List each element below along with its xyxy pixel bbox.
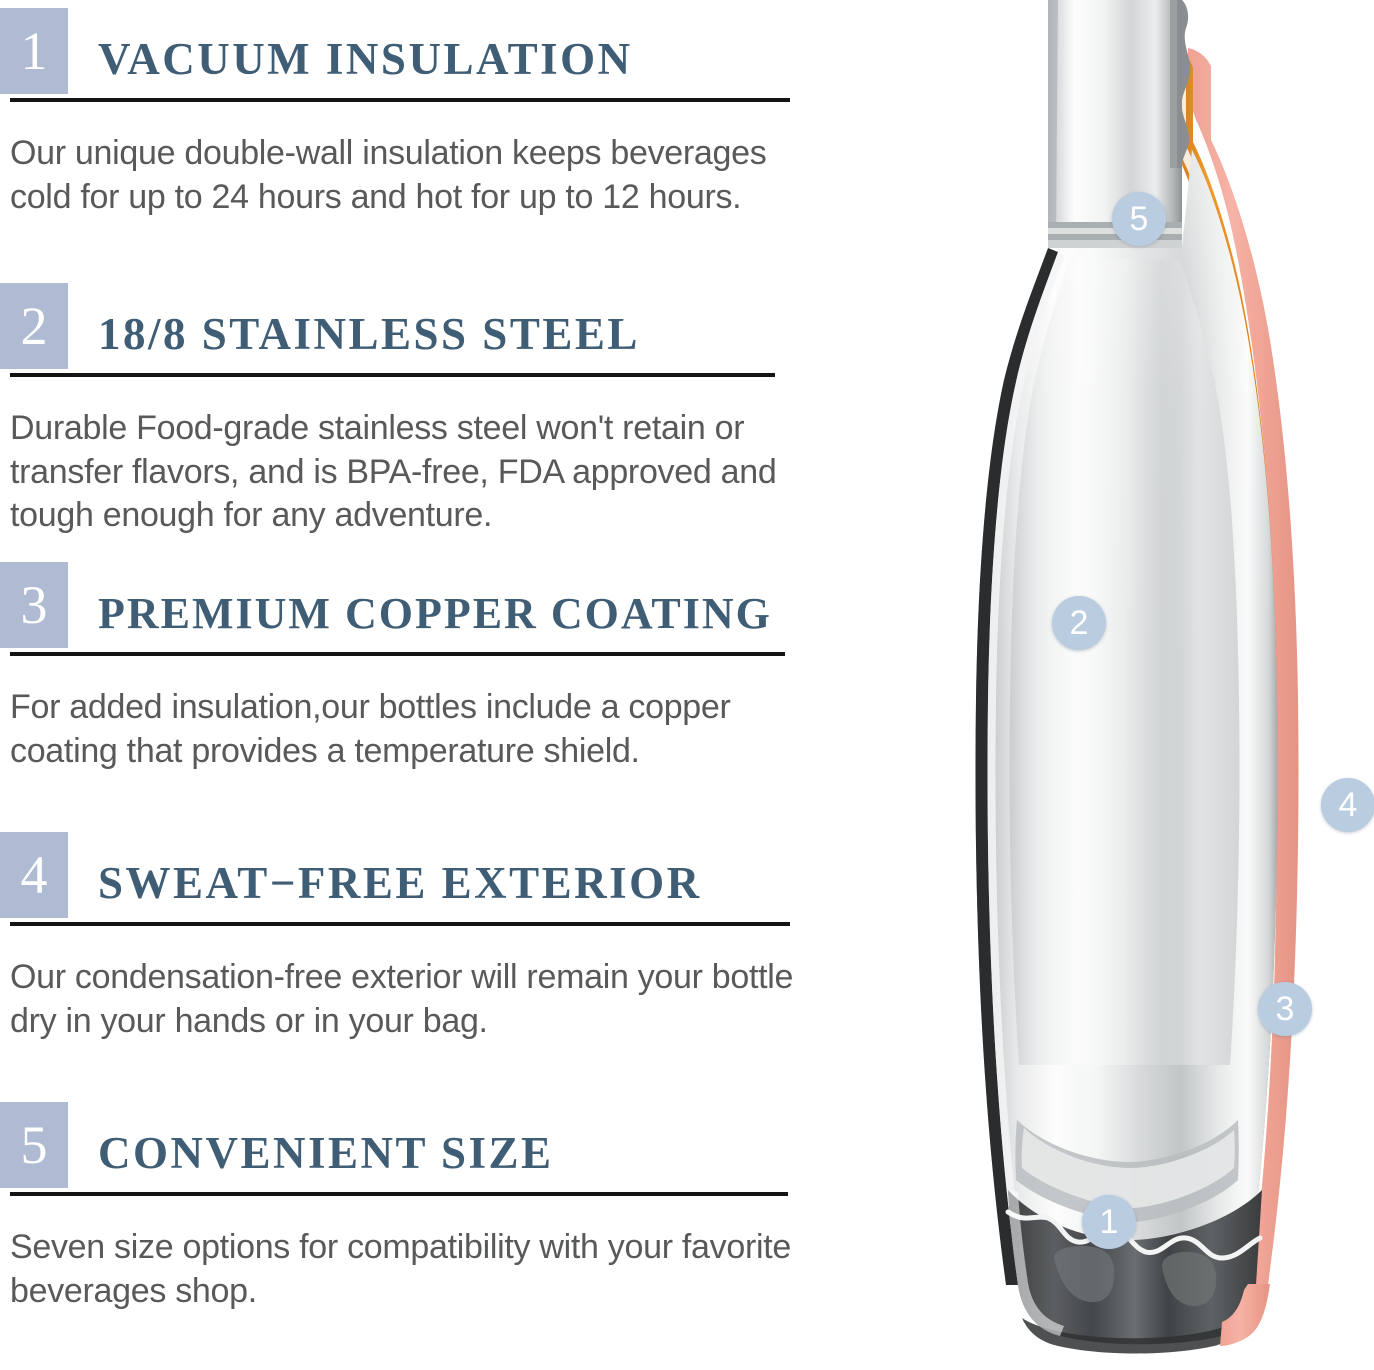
feature-3-title: PREMIUM COPPER COATING [68, 592, 772, 648]
feature-5-header: 5 CONVENIENT SIZE [0, 1102, 880, 1188]
feature-item-4: 4 SWEAT−FREE EXTERIOR Our condensation-f… [0, 832, 880, 1043]
callout-badge-1[interactable]: 1 [1082, 1195, 1136, 1249]
feature-3-header: 3 PREMIUM COPPER COATING [0, 562, 880, 648]
feature-4-divider [10, 922, 790, 926]
feature-5-body: Seven size options for compatibility wit… [0, 1226, 830, 1313]
feature-item-1: 1 VACUUM INSULATION Our unique double-wa… [0, 8, 880, 219]
feature-1-number: 1 [0, 8, 68, 94]
feature-1-divider [10, 98, 790, 102]
callout-badge-4[interactable]: 4 [1321, 778, 1374, 832]
feature-4-header: 4 SWEAT−FREE EXTERIOR [0, 832, 880, 918]
feature-2-body: Durable Food-grade stainless steel won't… [0, 407, 830, 538]
feature-2-divider [10, 373, 775, 377]
feature-4-title: SWEAT−FREE EXTERIOR [68, 861, 702, 918]
feature-item-5: 5 CONVENIENT SIZE Seven size options for… [0, 1102, 880, 1313]
callout-badge-2[interactable]: 2 [1052, 596, 1106, 650]
feature-5-title: CONVENIENT SIZE [68, 1131, 554, 1188]
feature-item-3: 3 PREMIUM COPPER COATING For added insul… [0, 562, 880, 773]
inner-liner-wall [1009, 258, 1239, 1065]
feature-4-number: 4 [0, 832, 68, 918]
feature-2-title: 18/8 STAINLESS STEEL [68, 312, 640, 369]
feature-1-header: 1 VACUUM INSULATION [0, 8, 880, 94]
feature-list: 1 VACUUM INSULATION Our unique double-wa… [0, 0, 880, 1370]
feature-2-header: 2 18/8 STAINLESS STEEL [0, 283, 880, 369]
callout-badge-5[interactable]: 5 [1112, 192, 1166, 246]
bottle-neck [1048, 0, 1182, 238]
feature-3-body: For added insulation,our bottles include… [0, 686, 830, 773]
feature-1-title: VACUUM INSULATION [68, 37, 633, 94]
feature-item-2: 2 18/8 STAINLESS STEEL Durable Food-grad… [0, 283, 880, 538]
feature-4-body: Our condensation-free exterior will rema… [0, 956, 830, 1043]
infographic-page: 1 VACUUM INSULATION Our unique double-wa… [0, 0, 1374, 1370]
feature-5-number: 5 [0, 1102, 68, 1188]
feature-5-divider [10, 1192, 788, 1196]
feature-3-divider [10, 652, 785, 656]
feature-3-number: 3 [0, 562, 68, 648]
feature-1-body: Our unique double-wall insulation keeps … [0, 132, 830, 219]
callout-badge-3[interactable]: 3 [1258, 982, 1312, 1036]
feature-2-number: 2 [0, 283, 68, 369]
